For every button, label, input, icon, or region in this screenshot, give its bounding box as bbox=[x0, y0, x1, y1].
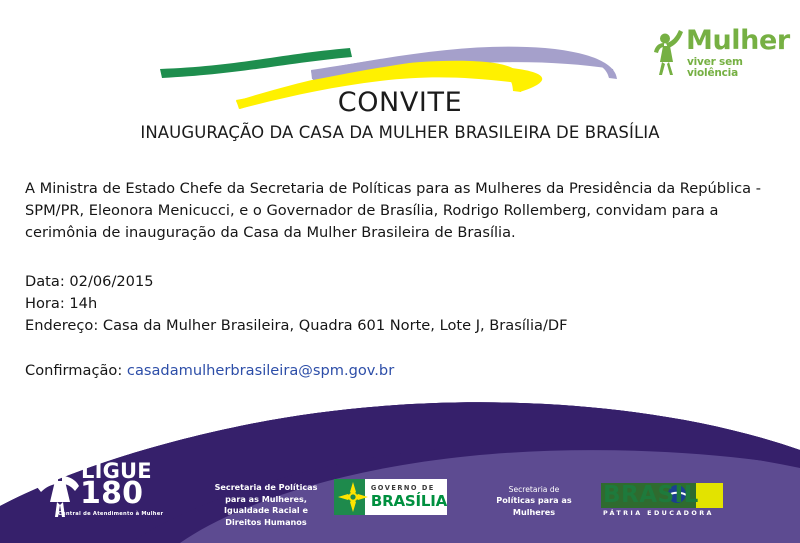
brasil-patria-educadora-logo: BRASIL PÁTRIA EDUCADORA bbox=[601, 483, 723, 521]
governo-brasilia-text: GOVERNO DE BRASÍLIA bbox=[365, 479, 447, 515]
ligue-180-caption: Central de Atendimento à Mulher bbox=[58, 511, 163, 517]
event-address: Endereço: Casa da Mulher Brasileira, Qua… bbox=[25, 315, 765, 337]
ligue-180-logo: LIGUE 180 Central de Atendimento à Mulhe… bbox=[36, 461, 166, 523]
ligue-180-word-bottom: 180 bbox=[80, 479, 143, 509]
spm-mulheres-line1: Secretaria de bbox=[478, 484, 590, 495]
brasil-logo-word: BRASIL bbox=[603, 483, 699, 508]
spm-mulheres-line2: Políticas para as Mulheres bbox=[496, 495, 571, 517]
event-time: Hora: 14h bbox=[25, 293, 765, 315]
invitation-body-text: A Ministra de Estado Chefe da Secretaria… bbox=[25, 178, 785, 244]
mulher-wordmark: Mulher bbox=[686, 27, 790, 54]
confirmation-label: Confirmação: bbox=[25, 362, 122, 379]
mulher-tagline: viver sem violência bbox=[687, 57, 788, 78]
event-details: Data: 02/06/2015 Hora: 14h Endereço: Cas… bbox=[25, 271, 765, 337]
brasilia-flag-icon bbox=[334, 479, 365, 515]
governo-brasilia-top: GOVERNO DE bbox=[371, 485, 447, 492]
brasil-logo-subtitle: PÁTRIA EDUCADORA bbox=[603, 510, 714, 516]
secretaria-politicas-igualdade-logo: Secretaria de Políticas para as Mulheres… bbox=[205, 482, 327, 528]
ligue-180-figure-icon bbox=[36, 461, 80, 517]
invitation-page: Mulher viver sem violência CONVITE INAUG… bbox=[0, 0, 800, 543]
mulher-figure-icon bbox=[648, 26, 688, 76]
confirmation-line: Confirmação: casadamulherbrasileira@spm.… bbox=[25, 360, 394, 382]
mulher-logo: Mulher viver sem violência bbox=[648, 26, 788, 78]
governo-de-brasilia-logo: GOVERNO DE BRASÍLIA bbox=[334, 479, 447, 515]
confirmation-email-link[interactable]: casadamulherbrasileira@spm.gov.br bbox=[127, 362, 394, 379]
page-subtitle: INAUGURAÇÃO DA CASA DA MULHER BRASILEIRA… bbox=[0, 123, 800, 142]
event-date: Data: 02/06/2015 bbox=[25, 271, 765, 293]
governo-brasilia-bottom: BRASÍLIA bbox=[371, 494, 447, 509]
secretaria-politicas-mulheres-logo: Secretaria de Políticas para as Mulheres bbox=[478, 484, 590, 518]
page-title: CONVITE bbox=[0, 87, 800, 118]
